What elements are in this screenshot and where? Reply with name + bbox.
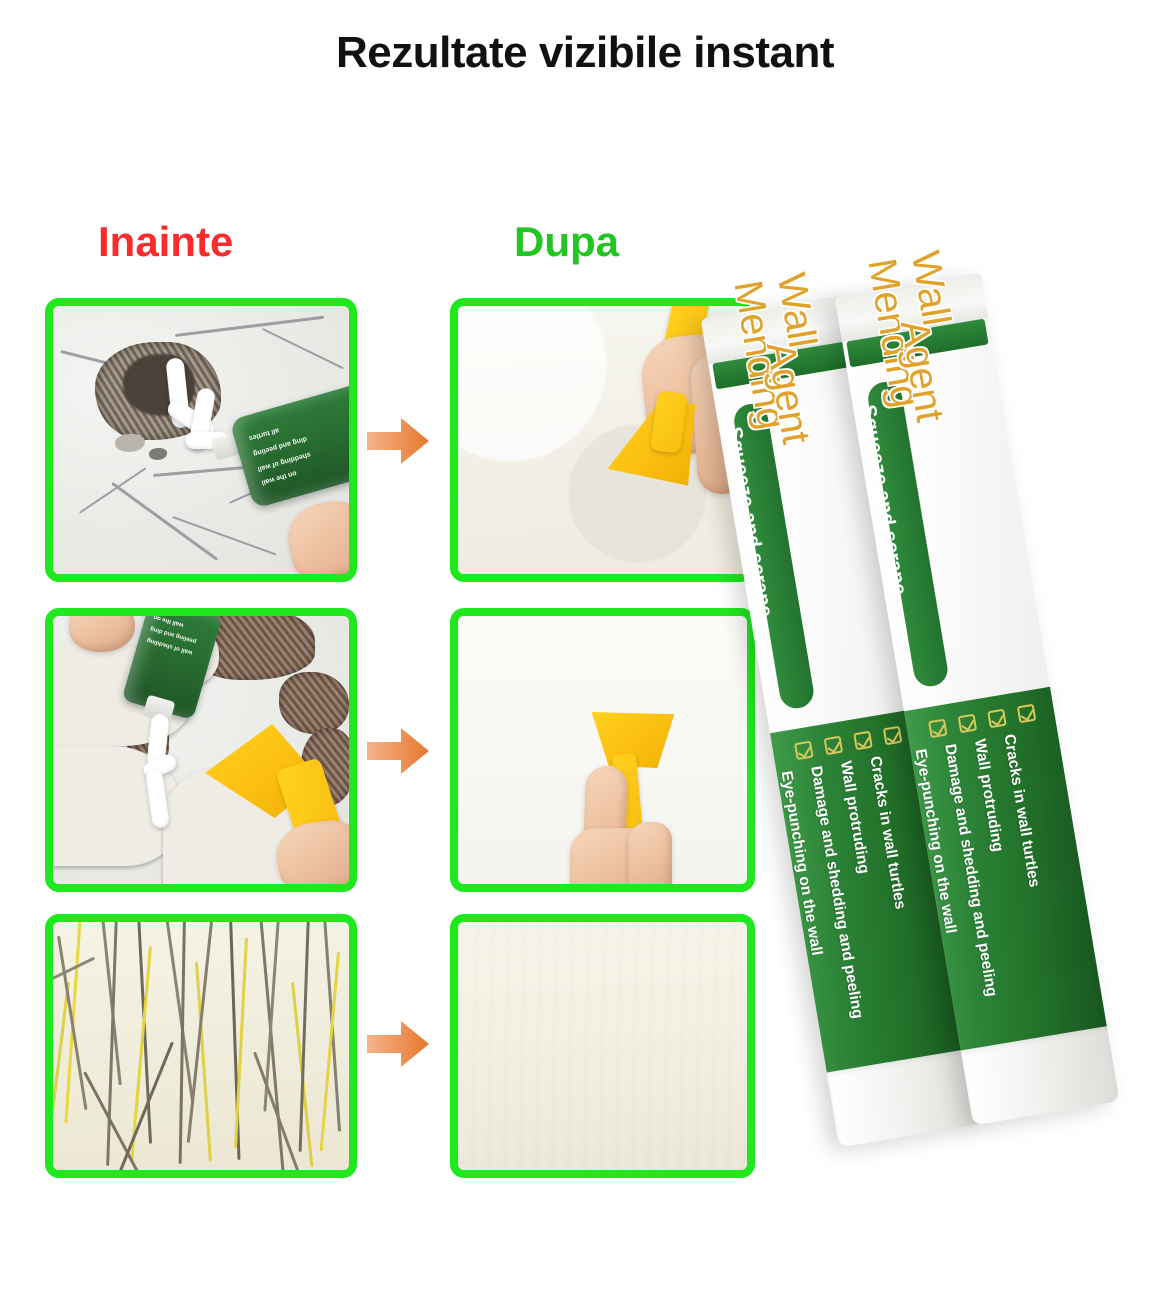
product-benefit-graphic: Rezultate vizibile instant Inainte Dupa xyxy=(0,0,1170,1292)
check-icon xyxy=(794,741,814,761)
before-image-row-2: wall the on peeling and ding wall of she… xyxy=(45,608,357,892)
check-icon xyxy=(824,736,844,756)
check-icon xyxy=(853,731,873,751)
before-image-row-1: all turtles ding and peeling shedding of… xyxy=(45,298,357,582)
tube-feature-2: Wall protruding xyxy=(836,760,873,875)
tube-feature-2: Wall protruding xyxy=(970,738,1007,853)
after-image-row-3 xyxy=(450,914,755,1178)
page-title: Rezultate vizibile instant xyxy=(0,28,1170,78)
arrow-right-icon xyxy=(367,415,429,467)
tube-feature-1: Cracks in wall turtles xyxy=(999,733,1042,889)
check-icon xyxy=(958,714,978,734)
column-heading-before: Inainte xyxy=(98,218,233,266)
column-heading-after: Dupa xyxy=(514,218,619,266)
tube-feature-1: Cracks in wall turtles xyxy=(865,755,908,911)
check-icon xyxy=(1017,704,1037,724)
after-image-row-2 xyxy=(450,608,755,892)
check-icon xyxy=(928,719,948,739)
arrow-right-icon xyxy=(367,1018,429,1070)
check-icon xyxy=(987,709,1007,729)
before-image-row-3 xyxy=(45,914,357,1178)
arrow-right-icon xyxy=(367,725,429,777)
product-tubes: Squeeze and scrape Wall Mending Agent Cr… xyxy=(755,265,1170,1145)
check-icon xyxy=(883,726,903,746)
